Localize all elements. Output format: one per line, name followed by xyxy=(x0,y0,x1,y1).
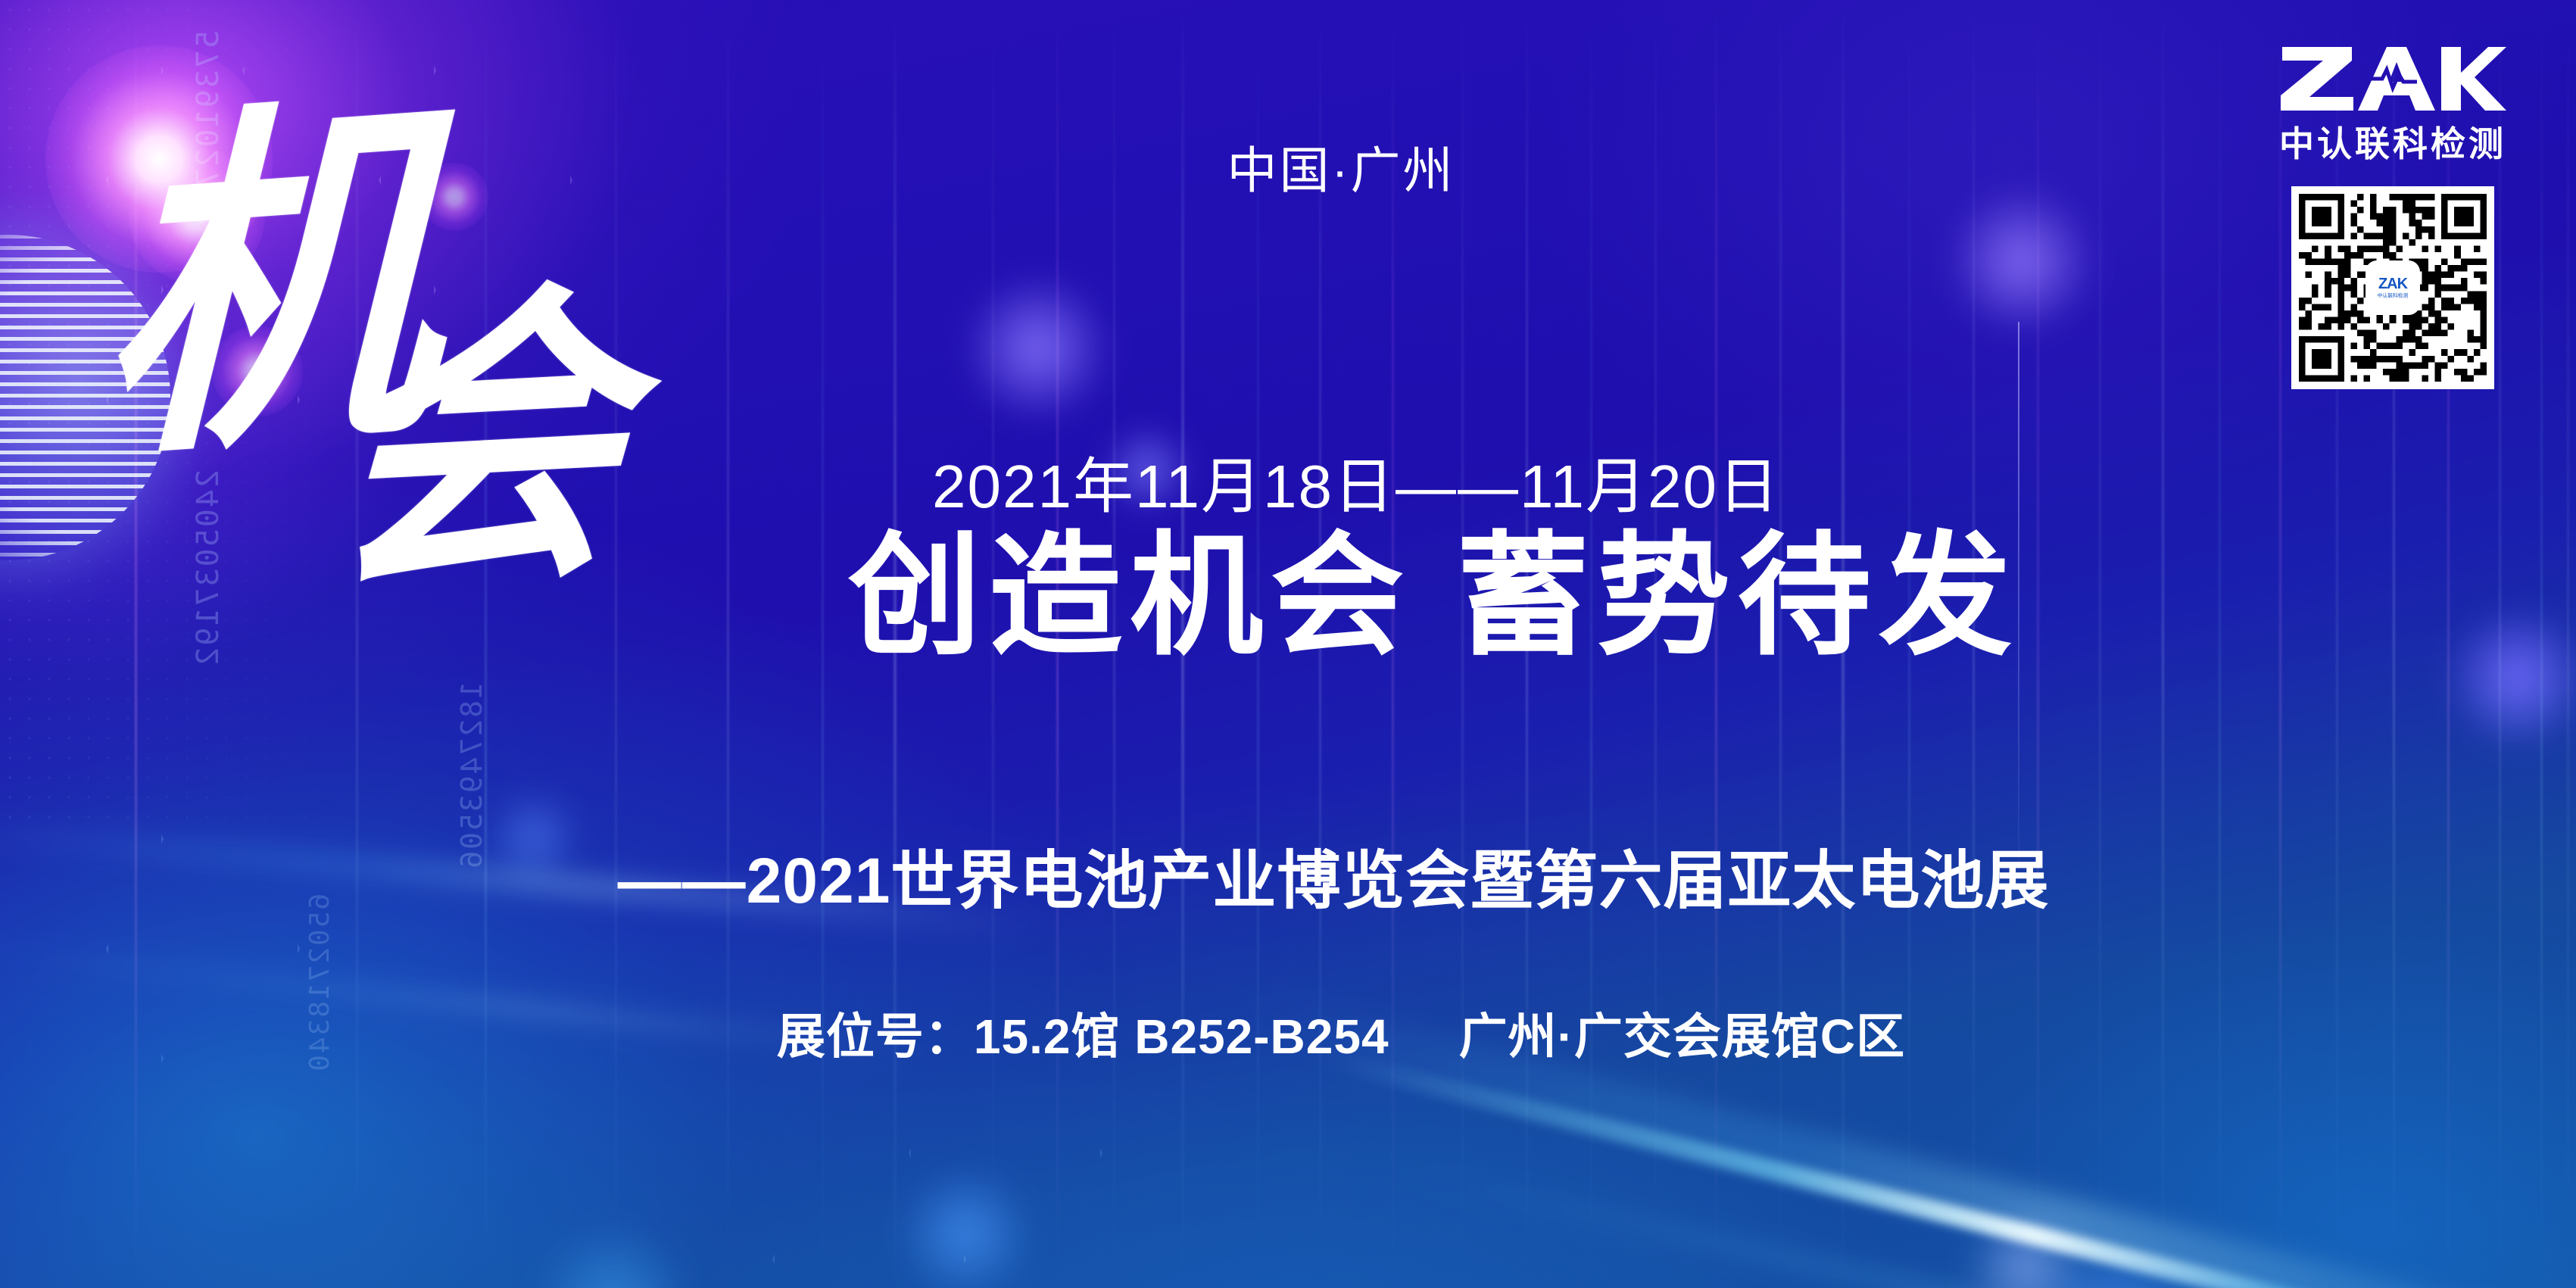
booth-number: 展位号：15.2馆 B252-B254 xyxy=(777,998,1389,1068)
zak-logo-icon xyxy=(2272,42,2514,112)
event-date-range: 2021年11月18日——11月20日 xyxy=(0,438,2576,525)
qr-center-logo: ZAK 中认联科检测 xyxy=(2368,263,2418,313)
brand-block: 中认联科检测 ZAK 中认联科检测 xyxy=(2272,42,2514,389)
banner-content: 机 会 中国·广州 2021年11月18日——11月20日 创造机会 蓄势待发 … xyxy=(0,0,2576,1288)
qr-code[interactable]: ZAK 中认联科检测 xyxy=(2291,186,2494,389)
booth-venue: 广州·广交会展馆C区 xyxy=(1459,998,1906,1068)
qr-center-logo-text: 中认联科检测 xyxy=(2378,294,2409,299)
brand-name: 中认联科检测 xyxy=(2272,117,2514,167)
main-headline: 创造机会 蓄势待发 xyxy=(848,530,2019,663)
booth-info-row: 展位号：15.2馆 B252-B254 广州·广交会展馆C区 xyxy=(0,998,2576,1068)
calligraphy-artwork: 机 会 xyxy=(106,174,787,606)
qr-center-logo-mark: ZAK xyxy=(2378,276,2407,292)
location-label: 中国·广州 xyxy=(0,130,2576,203)
event-subtitle: ——2021世界电池产业博览会暨第六届亚太电池展 xyxy=(0,830,2576,922)
promotional-banner: 5739102743 2405037192 1827493506 6502718… xyxy=(0,0,2576,1288)
